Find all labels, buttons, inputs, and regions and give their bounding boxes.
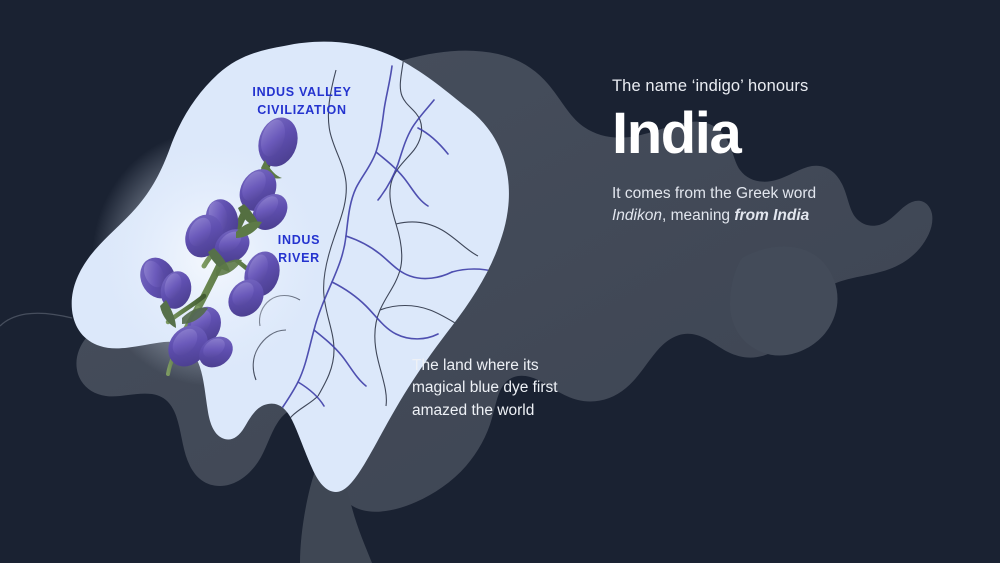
subcopy-middle: , meaning (662, 207, 734, 224)
subcopy-bold-italic: from India (734, 207, 809, 224)
subcopy-line-1: It comes from the Greek word (612, 185, 816, 202)
eyebrow-text: The name ‘indigo’ honours (612, 76, 962, 97)
western-border-line (0, 313, 72, 326)
map-label-indus-valley-civilization: INDUS VALLEY CIVILIZATION (252, 84, 352, 120)
page-title: India (612, 103, 962, 164)
map-caption: The land where its magical blue dye firs… (412, 355, 562, 422)
slide-canvas: INDUS VALLEY CIVILIZATION INDUS RIVER Th… (0, 0, 1000, 563)
subcopy-text: It comes from the Greek word Indikon, me… (612, 183, 962, 227)
headline-copy-block: The name ‘indigo’ honours India It comes… (612, 76, 962, 227)
subcopy-italic-word: Indikon (612, 207, 662, 224)
map-label-indus-river: INDUS RIVER (268, 232, 330, 268)
